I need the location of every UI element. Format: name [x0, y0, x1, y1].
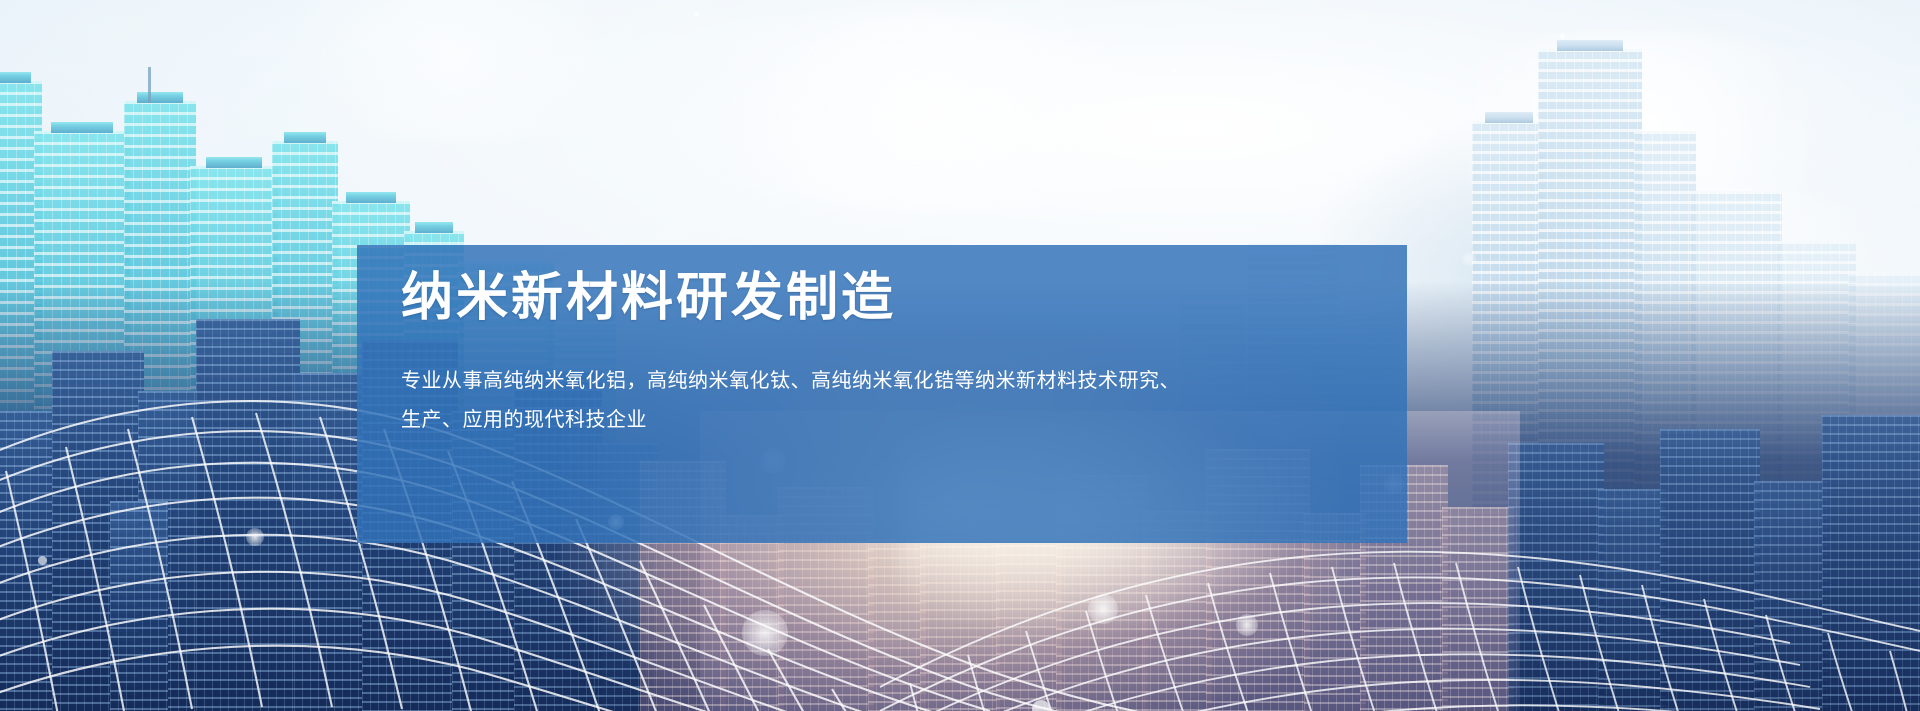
- hero-text-panel: 纳米新材料研发制造 专业从事高纯纳米氧化铝，高纯纳米氧化钛、高纯纳米氧化锆等纳米…: [357, 245, 1407, 543]
- hero-banner: 纳米新材料研发制造 专业从事高纯纳米氧化铝，高纯纳米氧化钛、高纯纳米氧化锆等纳米…: [0, 0, 1920, 711]
- bokeh-dot: [1560, 34, 1565, 39]
- hero-subtitle: 专业从事高纯纳米氧化铝，高纯纳米氧化钛、高纯纳米氧化锆等纳米新材料技术研究、生产…: [401, 362, 1191, 439]
- bokeh-dot: [1172, 68, 1176, 72]
- bokeh-dot: [694, 12, 699, 17]
- bokeh-dot: [742, 610, 788, 656]
- bokeh-dot: [1032, 700, 1050, 711]
- bokeh-dot: [1462, 252, 1476, 266]
- bokeh-dot: [1236, 614, 1258, 636]
- bokeh-dot: [246, 528, 264, 546]
- page-title: 纳米新材料研发制造: [401, 267, 1377, 330]
- bokeh-dot: [38, 556, 47, 565]
- bokeh-dot: [1088, 594, 1118, 624]
